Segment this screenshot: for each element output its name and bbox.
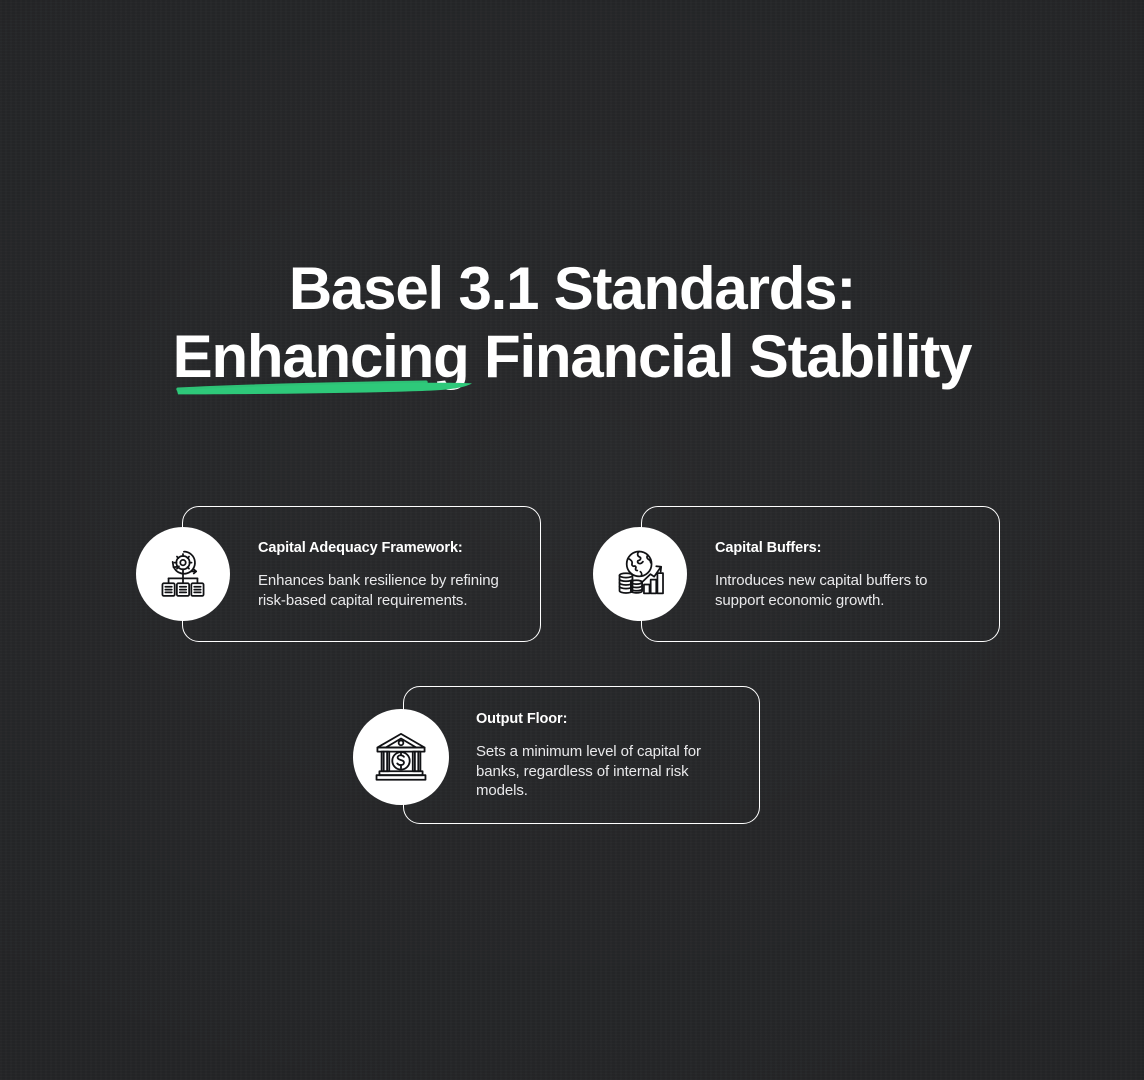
card-body-text: Sets a minimum level of capital for bank… [476, 742, 737, 801]
title-underline-highlight [176, 377, 474, 395]
card-output-floor[interactable]: Output Floor: Sets a minimum level of ca… [403, 686, 760, 824]
card-heading: Capital Buffers: [715, 538, 977, 558]
gear-hierarchy-icon [136, 527, 230, 621]
card-body-text: Introduces new capital buffers to suppor… [715, 571, 977, 610]
title-line-1: Basel 3.1 Standards: [0, 255, 1144, 323]
globe-coins-growth-icon [593, 527, 687, 621]
card-heading: Output Floor: [476, 709, 737, 729]
card-text-block: Capital Buffers: Introduces new capital … [715, 507, 977, 641]
page-title: Basel 3.1 Standards: Enhancing Financial… [0, 255, 1144, 391]
card-body-text: Enhances bank resilience by refining ris… [258, 571, 518, 610]
slide-canvas: Basel 3.1 Standards: Enhancing Financial… [0, 0, 1144, 1080]
title-line-2: Enhancing Financial Stability [0, 323, 1144, 391]
card-capital-buffers[interactable]: Capital Buffers: Introduces new capital … [641, 506, 1000, 642]
bank-dollar-icon [353, 709, 449, 805]
card-text-block: Capital Adequacy Framework: Enhances ban… [258, 507, 518, 641]
card-text-block: Output Floor: Sets a minimum level of ca… [476, 687, 737, 823]
card-heading: Capital Adequacy Framework: [258, 538, 518, 558]
card-capital-adequacy-framework[interactable]: Capital Adequacy Framework: Enhances ban… [182, 506, 541, 642]
